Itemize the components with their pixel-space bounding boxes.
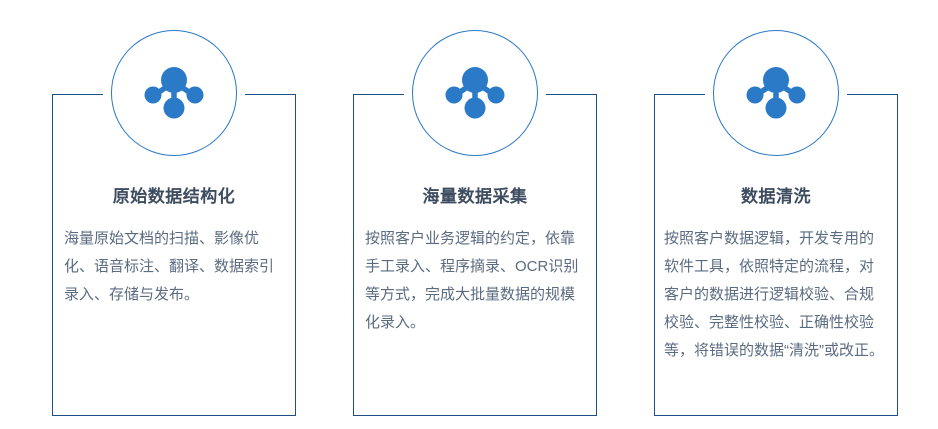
card-copy-1: 原始数据结构化 海量原始文档的扫描、影像优化、语音标注、翻译、数据索引录入、存储… bbox=[52, 185, 296, 309]
feature-cards-section: 原始数据结构化 海量原始文档的扫描、影像优化、语音标注、翻译、数据索引录入、存储… bbox=[0, 0, 938, 429]
card-body: 按照客户业务逻辑的约定，依靠手工录入、程序摘录、OCR识别等方式，完成大批量数据… bbox=[353, 225, 597, 337]
feature-card-1[interactable]: 原始数据结构化 海量原始文档的扫描、影像优化、语音标注、翻译、数据索引录入、存储… bbox=[46, 0, 348, 429]
card-title: 原始数据结构化 bbox=[52, 185, 296, 209]
card-title: 海量数据采集 bbox=[353, 185, 597, 209]
icon-badge-3 bbox=[713, 30, 839, 156]
feature-card-2[interactable]: 海量数据采集 按照客户业务逻辑的约定，依靠手工录入、程序摘录、OCR识别等方式，… bbox=[347, 0, 649, 429]
feature-card-3[interactable]: 数据清洗 按照客户数据逻辑，开发专用的软件工具，依照特定的流程，对客户的数据进行… bbox=[648, 0, 938, 429]
card-body: 海量原始文档的扫描、影像优化、语音标注、翻译、数据索引录入、存储与发布。 bbox=[52, 225, 296, 309]
card-copy-3: 数据清洗 按照客户数据逻辑，开发专用的软件工具，依照特定的流程，对客户的数据进行… bbox=[654, 185, 898, 365]
card-title: 数据清洗 bbox=[654, 185, 898, 209]
card-body: 按照客户数据逻辑，开发专用的软件工具，依照特定的流程，对客户的数据进行逻辑校验、… bbox=[654, 225, 898, 365]
card-copy-2: 海量数据采集 按照客户业务逻辑的约定，依靠手工录入、程序摘录、OCR识别等方式，… bbox=[353, 185, 597, 337]
icon-badge-2 bbox=[412, 30, 538, 156]
icon-badge-1 bbox=[111, 30, 237, 156]
